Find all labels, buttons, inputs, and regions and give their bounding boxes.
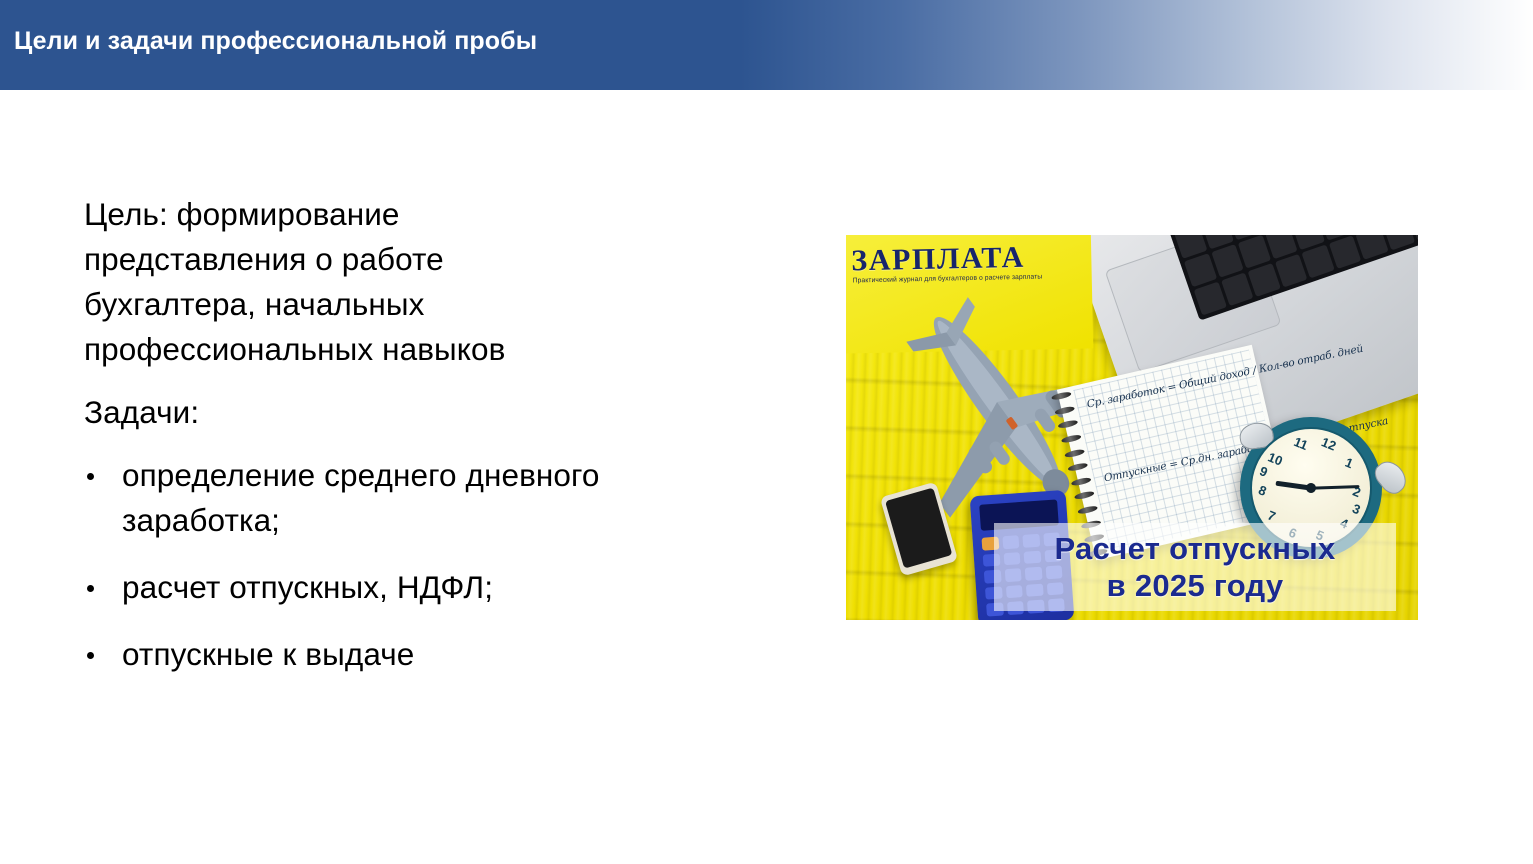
page-title: Цели и задачи профессиональной пробы	[14, 27, 537, 56]
list-item-label: отпускные к выдаче	[122, 636, 414, 672]
caption-line-1: Расчет отпускных	[1054, 530, 1335, 567]
caption-line-2: в 2025 году	[1107, 567, 1284, 604]
photo-caption-banner: Расчет отпускных в 2025 году	[994, 523, 1396, 611]
tasks-bullet-list: определение среднего дневного заработка;…	[84, 453, 704, 677]
laptop-keyboard	[1159, 235, 1418, 321]
list-item-label: определение среднего дневного заработка;	[122, 457, 600, 538]
bullet-dot-icon	[87, 585, 94, 592]
list-item: определение среднего дневного заработка;	[84, 453, 704, 543]
slide-header-band: Цели и задачи профессиональной пробы	[0, 0, 1533, 90]
magazine-title: ЗАРПЛАТА	[851, 241, 1025, 279]
list-item: расчет отпускных, НДФЛ;	[84, 565, 704, 610]
bullet-dot-icon	[87, 652, 94, 659]
tasks-label: Задачи:	[84, 390, 704, 435]
content-text-column: Цель: формирование представления о работ…	[84, 192, 704, 677]
illustration-photo: ЗАРПЛАТА Практический журнал для бухгалт…	[846, 235, 1418, 620]
list-item-label: расчет отпускных, НДФЛ;	[122, 569, 493, 605]
list-item: отпускные к выдаче	[84, 632, 704, 677]
slide: Цели и задачи профессиональной пробы Цел…	[0, 0, 1533, 864]
goal-paragraph: Цель: формирование представления о работ…	[84, 192, 624, 372]
bullet-dot-icon	[87, 473, 94, 480]
